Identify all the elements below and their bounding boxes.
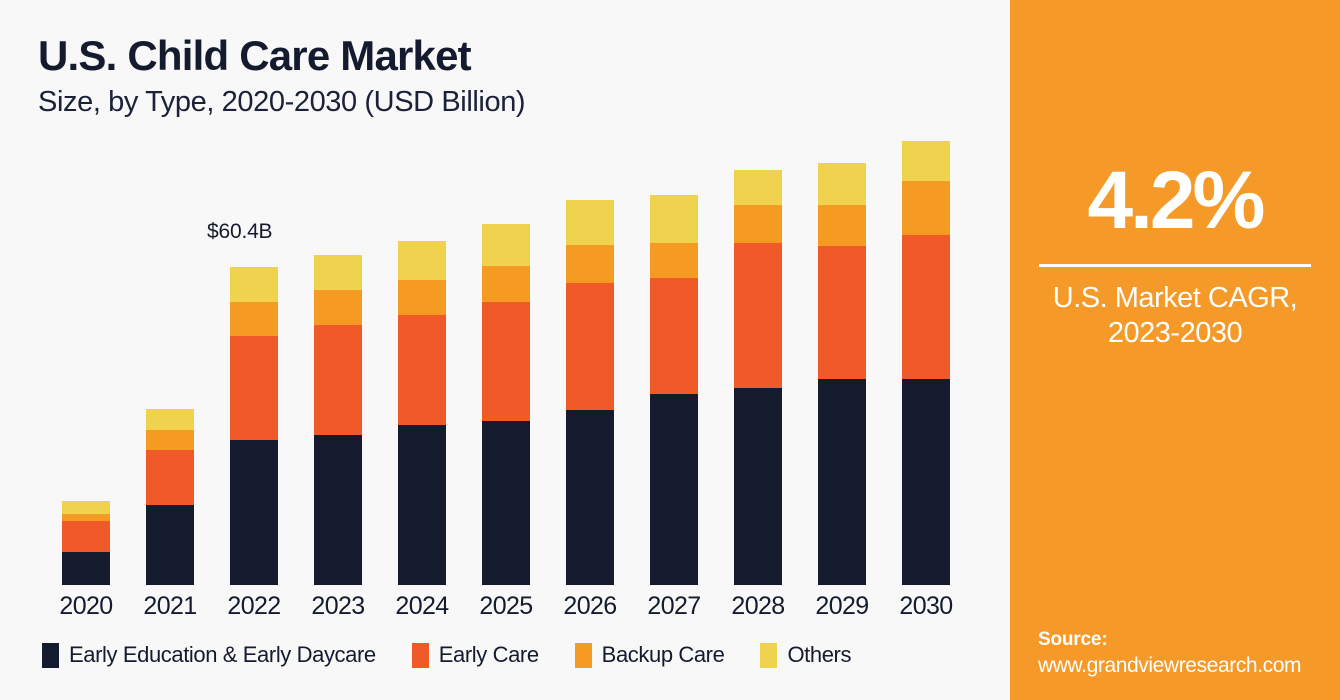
bar-2025[interactable] xyxy=(482,224,530,585)
bar-segment-backup-care[interactable] xyxy=(230,302,278,336)
source-label: Source: xyxy=(1038,629,1330,651)
bar-2027[interactable] xyxy=(650,195,698,585)
source-block: Source: www.grandviewresearch.com xyxy=(1038,629,1330,678)
bar-segment-others[interactable] xyxy=(818,163,866,205)
bar-segment-backup-care[interactable] xyxy=(902,181,950,235)
bar-segment-early-care[interactable] xyxy=(650,278,698,394)
x-axis-label-2026: 2026 xyxy=(556,592,624,621)
chart-panel: U.S. Child Care Market Size, by Type, 20… xyxy=(0,0,1010,700)
bar-segment-backup-care[interactable] xyxy=(482,266,530,302)
legend-swatch-icon xyxy=(42,643,59,668)
bar-segment-others[interactable] xyxy=(146,409,194,430)
bar-segment-early-care[interactable] xyxy=(566,283,614,410)
bar-segment-others[interactable] xyxy=(230,267,278,302)
bar-segment-backup-care[interactable] xyxy=(146,430,194,450)
legend-label: Others xyxy=(787,642,851,668)
bar-segment-early-care[interactable] xyxy=(230,336,278,440)
bar-segment-others[interactable] xyxy=(566,200,614,245)
x-axis-label-2025: 2025 xyxy=(472,592,540,621)
bar-segment-early-education-early-daycare[interactable] xyxy=(482,421,530,585)
bar-segment-backup-care[interactable] xyxy=(566,245,614,283)
x-axis-label-2030: 2030 xyxy=(892,592,960,621)
stat-panel: 4.2% U.S. Market CAGR, 2023-2030 Source:… xyxy=(1010,0,1340,700)
bar-2022[interactable] xyxy=(230,267,278,585)
legend-item-3[interactable]: Others xyxy=(760,642,851,668)
cagr-caption-line2: 2023-2030 xyxy=(1053,316,1298,351)
bar-segment-early-care[interactable] xyxy=(62,521,110,552)
bar-segment-early-education-early-daycare[interactable] xyxy=(314,435,362,585)
bar-2029[interactable] xyxy=(818,163,866,585)
bar-segment-others[interactable] xyxy=(482,224,530,266)
bar-segment-backup-care[interactable] xyxy=(818,205,866,246)
legend-item-2[interactable]: Backup Care xyxy=(575,642,725,668)
bar-segment-early-education-early-daycare[interactable] xyxy=(230,440,278,585)
bar-segment-early-education-early-daycare[interactable] xyxy=(398,425,446,585)
divider xyxy=(1039,264,1311,267)
bar-segment-early-care[interactable] xyxy=(818,246,866,379)
x-axis-label-2028: 2028 xyxy=(724,592,792,621)
bar-2030[interactable] xyxy=(902,141,950,585)
bar-segment-others[interactable] xyxy=(314,255,362,290)
bar-segment-others[interactable] xyxy=(902,141,950,181)
legend-item-0[interactable]: Early Education & Early Daycare xyxy=(42,642,376,668)
bar-segment-early-education-early-daycare[interactable] xyxy=(902,379,950,585)
bar-segment-early-education-early-daycare[interactable] xyxy=(62,552,110,585)
bar-segment-early-education-early-daycare[interactable] xyxy=(146,505,194,585)
bar-segment-early-care[interactable] xyxy=(398,315,446,425)
x-axis-label-2022: 2022 xyxy=(220,592,288,621)
x-axis: 2020202120222023202420252026202720282029… xyxy=(38,592,988,626)
bar-segment-early-education-early-daycare[interactable] xyxy=(566,410,614,585)
legend-swatch-icon xyxy=(575,643,592,668)
cagr-caption: U.S. Market CAGR, 2023-2030 xyxy=(1053,281,1298,352)
bar-chart-plot-area: $60.4B xyxy=(38,0,988,585)
bar-segment-others[interactable] xyxy=(650,195,698,243)
bar-segment-others[interactable] xyxy=(398,241,446,280)
bar-segment-early-care[interactable] xyxy=(902,235,950,379)
bar-segment-early-education-early-daycare[interactable] xyxy=(734,388,782,585)
infographic-root: U.S. Child Care Market Size, by Type, 20… xyxy=(0,0,1340,700)
legend-label: Early Education & Early Daycare xyxy=(69,642,376,668)
source-url[interactable]: www.grandviewresearch.com xyxy=(1038,654,1330,678)
x-axis-label-2029: 2029 xyxy=(808,592,876,621)
bar-2021[interactable] xyxy=(146,409,194,585)
stat-block: 4.2% U.S. Market CAGR, 2023-2030 xyxy=(1010,0,1340,700)
bar-segment-early-care[interactable] xyxy=(734,243,782,388)
bar-segment-backup-care[interactable] xyxy=(314,290,362,325)
x-axis-label-2020: 2020 xyxy=(52,592,120,621)
bar-segment-backup-care[interactable] xyxy=(398,280,446,315)
legend-label: Early Care xyxy=(439,642,539,668)
x-axis-label-2021: 2021 xyxy=(136,592,204,621)
bar-2020[interactable] xyxy=(62,501,110,585)
bar-2024[interactable] xyxy=(398,241,446,585)
x-axis-label-2027: 2027 xyxy=(640,592,708,621)
bar-segment-backup-care[interactable] xyxy=(62,514,110,521)
bar-segment-early-care[interactable] xyxy=(482,302,530,421)
bar-segment-others[interactable] xyxy=(734,170,782,205)
x-axis-label-2023: 2023 xyxy=(304,592,372,621)
bar-segment-others[interactable] xyxy=(62,501,110,514)
bar-segment-early-care[interactable] xyxy=(314,325,362,435)
bar-segment-early-education-early-daycare[interactable] xyxy=(650,394,698,585)
bar-segment-early-education-early-daycare[interactable] xyxy=(818,379,866,585)
legend-item-1[interactable]: Early Care xyxy=(412,642,539,668)
data-label-2022: $60.4B xyxy=(207,220,272,244)
bar-2028[interactable] xyxy=(734,170,782,585)
bar-2023[interactable] xyxy=(314,255,362,585)
bar-segment-backup-care[interactable] xyxy=(650,243,698,278)
bar-2026[interactable] xyxy=(566,200,614,585)
legend-swatch-icon xyxy=(760,643,777,668)
bar-segment-early-care[interactable] xyxy=(146,450,194,505)
legend-label: Backup Care xyxy=(602,642,725,668)
chart-legend: Early Education & Early DaycareEarly Car… xyxy=(42,638,887,672)
cagr-caption-line1: U.S. Market CAGR, xyxy=(1053,281,1298,316)
bar-segment-backup-care[interactable] xyxy=(734,205,782,243)
legend-swatch-icon xyxy=(412,643,429,668)
x-axis-label-2024: 2024 xyxy=(388,592,456,621)
cagr-value: 4.2% xyxy=(1088,160,1263,242)
